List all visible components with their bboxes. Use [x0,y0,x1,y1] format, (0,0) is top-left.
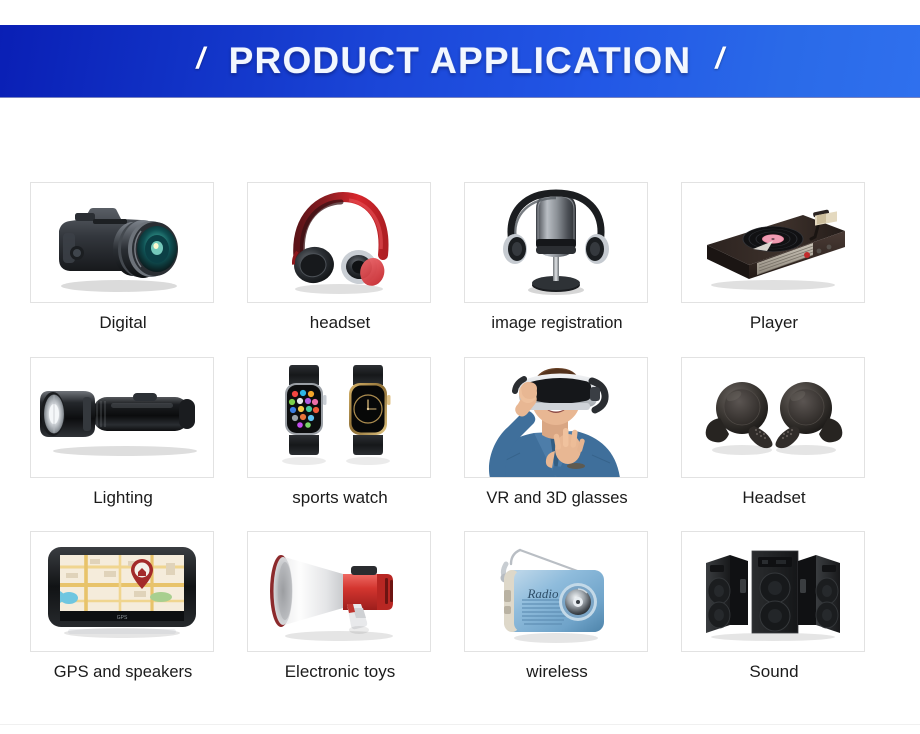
product-label: Headset [681,489,867,508]
svg-text:Radio: Radio [526,586,559,601]
svg-text:GPS: GPS [117,615,128,621]
list-item[interactable]: Headset [681,357,867,508]
list-item[interactable]: GPS GPS and speakers [30,531,216,682]
product-thumbnail[interactable]: Radio [464,531,648,652]
product-thumbnail[interactable] [247,357,431,478]
product-thumbnail[interactable] [464,182,648,303]
right-slash-decoration: / [715,42,723,76]
product-thumbnail[interactable] [30,182,214,303]
product-label: Electronic toys [247,663,433,682]
product-label: VR and 3D glasses [464,489,650,507]
product-thumbnail[interactable] [681,357,865,478]
product-thumbnail[interactable]: GPS [30,531,214,652]
product-thumbnail[interactable] [247,182,431,303]
banner-content: / PRODUCT APPLICATION / [196,40,723,82]
left-slash-decoration: / [196,42,204,76]
product-label: Digital [30,314,216,333]
product-label: sports watch [247,489,433,508]
list-item[interactable]: headset [247,182,433,333]
product-thumbnail[interactable] [464,357,648,478]
product-thumbnail[interactable] [681,531,865,652]
list-item[interactable]: image registration [464,182,650,333]
gps-navigator-icon: GPS [42,541,202,643]
product-thumbnail[interactable] [247,531,431,652]
product-thumbnail[interactable] [30,357,214,478]
speaker-stack-icon [696,541,850,643]
dslr-camera-icon [47,191,197,295]
list-item[interactable]: sports watch [247,357,433,508]
list-item[interactable]: Sound [681,531,867,682]
product-label: image registration [464,314,650,332]
product-thumbnail[interactable] [681,182,865,303]
smartwatch-pair-icon [268,361,410,473]
flashlight-icon [39,373,205,461]
product-application-banner: / PRODUCT APPLICATION / [0,25,920,97]
retro-radio-icon: Radio [490,536,622,648]
product-label: wireless [464,663,650,682]
list-item[interactable]: Electronic toys [247,531,433,682]
product-label: GPS and speakers [30,663,216,681]
over-ear-headphones-icon [273,189,405,297]
turntable-record-player-icon [695,193,851,293]
list-item[interactable]: Radio wireless [464,531,650,682]
product-label: headset [247,314,433,333]
product-label: Sound [681,663,867,682]
page-bottom-divider [0,724,920,725]
microphone-with-headphones-icon [492,187,620,299]
list-item[interactable]: Player [681,182,867,333]
list-item[interactable]: Digital [30,182,216,333]
vr-headset-person-icon [465,357,647,478]
product-label: Player [681,314,867,333]
product-application-grid: Digital [30,182,890,682]
product-label: Lighting [30,489,216,508]
wireless-earbuds-icon [698,374,848,460]
megaphone-icon [259,538,419,646]
list-item[interactable]: Lighting [30,357,216,508]
list-item[interactable]: VR and 3D glasses [464,357,650,508]
page-title: PRODUCT APPLICATION [229,40,692,82]
